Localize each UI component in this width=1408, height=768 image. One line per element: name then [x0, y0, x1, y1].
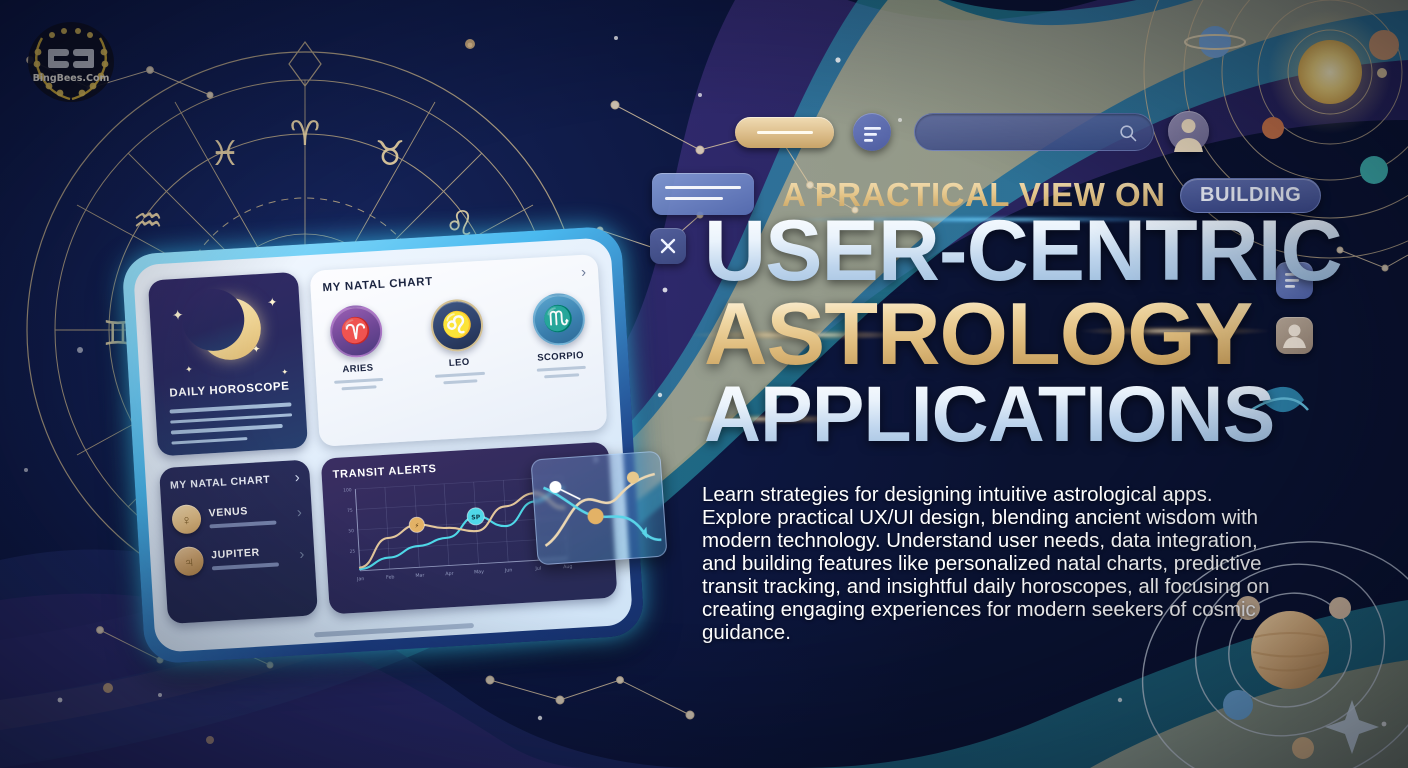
vignette — [0, 0, 1408, 768]
banner-canvas: ♓ ♈ ♉ ♌ ♍ ♒ ♊ — [0, 0, 1408, 768]
